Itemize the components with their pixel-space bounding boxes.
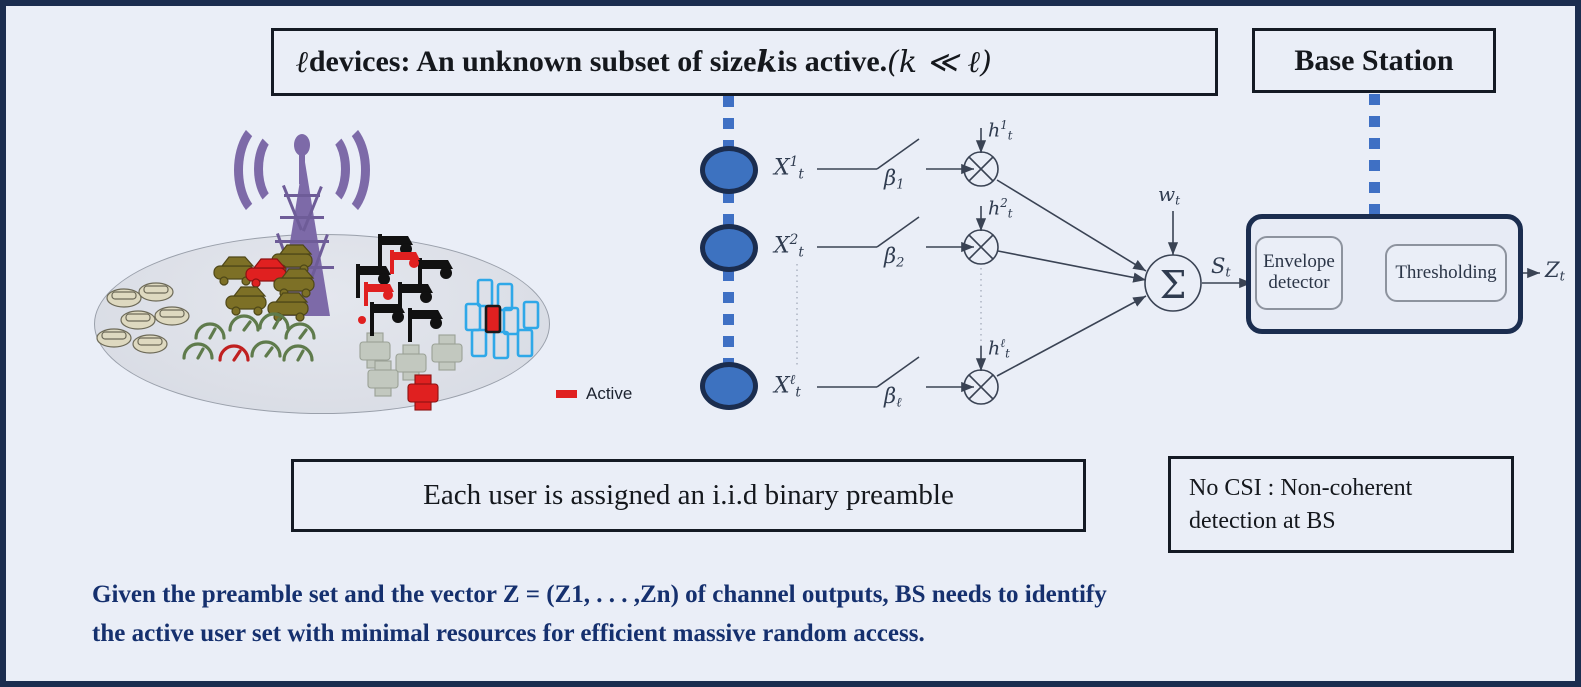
- envelope-detector-line1: Envelope: [1263, 251, 1335, 272]
- switch-label-l: βℓ: [884, 384, 902, 411]
- signal-label-2: X2t: [774, 232, 804, 260]
- final-output-label: Zt: [1545, 258, 1565, 285]
- signal-label-1: X1t: [774, 154, 804, 182]
- channel-label-1: h1t: [988, 118, 1012, 143]
- summary-line1: Given the preamble set and the vector Z …: [92, 581, 1107, 608]
- channel-label-l: hℓt: [988, 336, 1010, 361]
- no-csi-line1: No CSI : Non-coherent: [1189, 475, 1412, 501]
- summary-paragraph: Given the preamble set and the vector Z …: [92, 576, 1492, 654]
- preamble-callout-box: Each user is assigned an i.i.d binary pr…: [291, 459, 1086, 532]
- switch-label-2: β2: [884, 244, 904, 271]
- envelope-detector-line2: detector: [1268, 272, 1329, 293]
- preamble-label: Each user is assigned an i.i.d binary pr…: [423, 479, 954, 512]
- channel-label-2: h2t: [988, 196, 1012, 221]
- switch-label-1: β1: [884, 166, 904, 193]
- thresholding-label: Thresholding: [1395, 263, 1496, 284]
- signal-label-l: Xℓt: [774, 372, 801, 400]
- envelope-detector-block: Envelope detector: [1255, 236, 1343, 310]
- no-csi-callout-box: No CSI : Non-coherent detection at BS: [1168, 456, 1514, 553]
- thresholding-block: Thresholding: [1385, 244, 1507, 302]
- no-csi-line2: detection at BS: [1189, 508, 1336, 534]
- sum-output-label: St: [1211, 254, 1231, 281]
- figure-root: Active ℓ devices: An unknown subset of s…: [0, 0, 1581, 687]
- summation-symbol: Σ: [1160, 263, 1187, 307]
- summary-line2: the active user set with minimal resourc…: [92, 620, 925, 647]
- noise-label: wt: [1158, 182, 1180, 207]
